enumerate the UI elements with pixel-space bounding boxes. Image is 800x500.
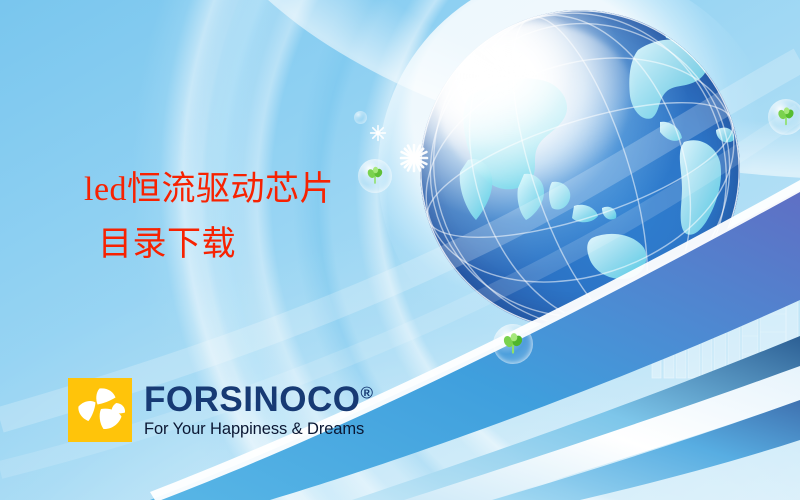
brand-tagline: For Your Happiness & Dreams (144, 420, 373, 439)
bubble-small-upper (354, 111, 367, 124)
headline-line-1: led恒流驱动芯片 (84, 171, 334, 208)
headline-line-2: 目录下载 (84, 217, 334, 272)
green-sprout-icon (776, 106, 797, 127)
brand-logo: FORSINOCO® For Your Happiness & Dreams (68, 378, 373, 442)
registered-trademark-symbol: ® (360, 383, 373, 402)
logo-wordmark: FORSINOCO® For Your Happiness & Dreams (144, 382, 373, 439)
promo-banner: led恒流驱动芯片 目录下载 FORSINOCO® For Your Happi… (0, 0, 800, 500)
earth-globe (420, 10, 740, 330)
bubble-sprout-right (768, 99, 800, 135)
brand-name-text: FORSINOCO (144, 380, 360, 419)
globe-halo-ring (404, 0, 756, 346)
page-title: led恒流驱动芯片 目录下载 (84, 162, 334, 272)
forsinoco-pinwheel-mark (68, 378, 132, 442)
bubble-sprout-left (358, 159, 392, 193)
green-sprout-icon (365, 165, 385, 185)
green-sprout-icon (501, 331, 525, 355)
brand-name: FORSINOCO® (144, 382, 373, 417)
bubble-sprout-center (493, 324, 533, 364)
